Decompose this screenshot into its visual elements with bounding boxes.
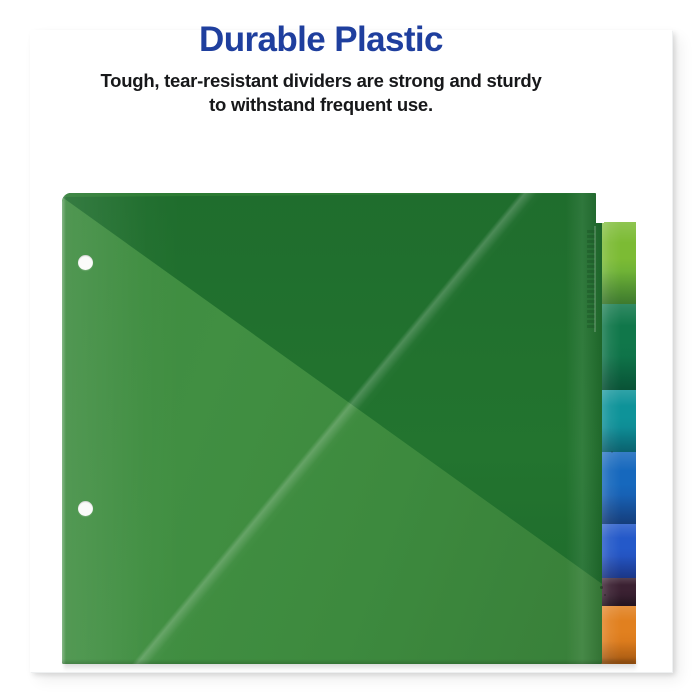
tab-bottom-shade <box>596 595 636 606</box>
tab-top-sheen <box>596 452 636 471</box>
surface-speck <box>600 586 603 589</box>
tab-bottom-shade <box>596 556 636 578</box>
tab-light-green[interactable] <box>596 222 636 304</box>
tab-top-sheen <box>596 524 636 538</box>
page-title: Durable Plastic <box>30 22 612 59</box>
binding-strip-edge-highlight <box>594 226 596 332</box>
tab-top-sheen <box>596 304 636 326</box>
marketing-copy-block: Durable Plastic Tough, tear-resistant di… <box>30 22 612 117</box>
plastic-divider-sheet <box>62 193 602 664</box>
subtitle-line-1: Tough, tear-resistant dividers are stron… <box>100 70 541 91</box>
tab-blue[interactable] <box>596 452 636 524</box>
product-photo-canvas: Durable Plastic Tough, tear-resistant di… <box>0 0 700 700</box>
top-punch-hole <box>78 255 93 270</box>
subtitle-line-2: to withstand frequent use. <box>209 94 433 115</box>
tab-top-sheen <box>596 606 636 621</box>
tab-dark-green[interactable] <box>596 304 636 390</box>
tab-orange[interactable] <box>596 606 636 664</box>
subtitle: Tough, tear-resistant dividers are stron… <box>30 69 612 117</box>
tab-bottom-shade <box>596 271 636 304</box>
index-tab-stack <box>596 222 636 664</box>
tab-royal-blue[interactable] <box>596 524 636 578</box>
tab-bottom-shade <box>596 427 636 452</box>
tab-top-sheen <box>596 390 636 406</box>
tab-top-sheen <box>596 578 636 585</box>
tab-dark-purple[interactable] <box>596 578 636 606</box>
tab-top-sheen <box>596 222 636 243</box>
tab-bottom-shade <box>596 495 636 524</box>
surface-speck <box>604 594 606 596</box>
sheet-top-right-notch <box>596 193 604 223</box>
surface-speck <box>611 451 613 453</box>
tab-bottom-shade <box>596 356 636 390</box>
tab-teal[interactable] <box>596 390 636 452</box>
bottom-punch-hole <box>78 501 93 516</box>
